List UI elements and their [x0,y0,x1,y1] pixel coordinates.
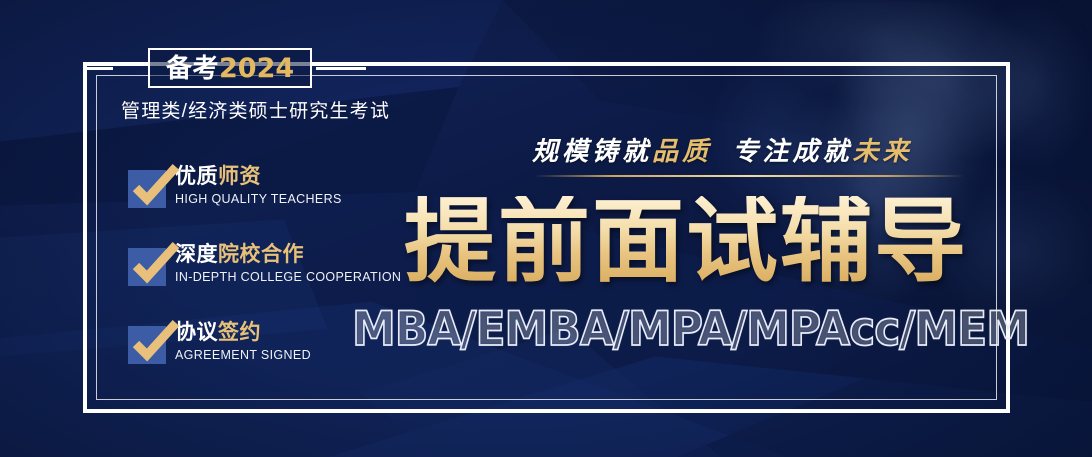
feature-text: 优质师资 HIGH QUALITY TEACHERS [175,166,401,206]
feature-item: 优质师资 HIGH QUALITY TEACHERS [128,166,401,212]
feature-title-white: 优质 [175,165,218,188]
feature-title-gold: 师资 [218,165,261,188]
feature-title-white: 协议 [175,321,218,344]
tagline-part1-gold: 品质 [652,137,712,166]
feature-subtitle: IN-DEPTH COLLEGE COOPERATION [175,270,401,284]
feature-title-gold: 院校合作 [218,243,304,266]
tagline-part2-gold: 未来 [853,137,913,166]
check-icon [128,326,166,364]
feature-text: 深度院校合作 IN-DEPTH COLLEGE COOPERATION [175,244,401,284]
check-icon [128,248,166,286]
feature-list: 优质师资 HIGH QUALITY TEACHERS 深度院校合作 IN-DEP… [128,166,401,400]
degree-programs-list: MBA/EMBA/MPA/MPAcc/MEM [352,306,1029,354]
feature-title: 深度院校合作 [175,244,401,267]
check-icon [128,170,166,208]
feature-item: 深度院校合作 IN-DEPTH COLLEGE COOPERATION [128,244,401,290]
exam-year-badge: 备考 2024 [83,47,366,89]
feature-title-white: 深度 [175,243,218,266]
banner-tagline: 规模铸就品质 专注成就未来 [532,131,913,168]
tagline-part2-white: 专注成就 [733,137,853,166]
feature-title-gold: 签约 [218,321,261,344]
tagline-part1-white: 规模铸就 [532,137,652,166]
feature-subtitle: HIGH QUALITY TEACHERS [175,192,401,206]
promo-banner: 备考 2024 管理类/经济类硕士研究生考试 优质师资 HIGH QUALITY… [0,0,1092,457]
banner-headline: 提前面试辅导 [404,196,968,288]
badge-dash-left [83,67,113,70]
tagline-divider [534,175,964,177]
badge-label-year: 2024 [219,55,294,82]
badge-dash-right [316,67,366,70]
badge-label-cn: 备考 [166,55,219,81]
badge-box: 备考 2024 [148,48,312,88]
banner-subtitle: 管理类/经济类硕士研究生考试 [121,96,390,123]
feature-title: 优质师资 [175,166,401,189]
